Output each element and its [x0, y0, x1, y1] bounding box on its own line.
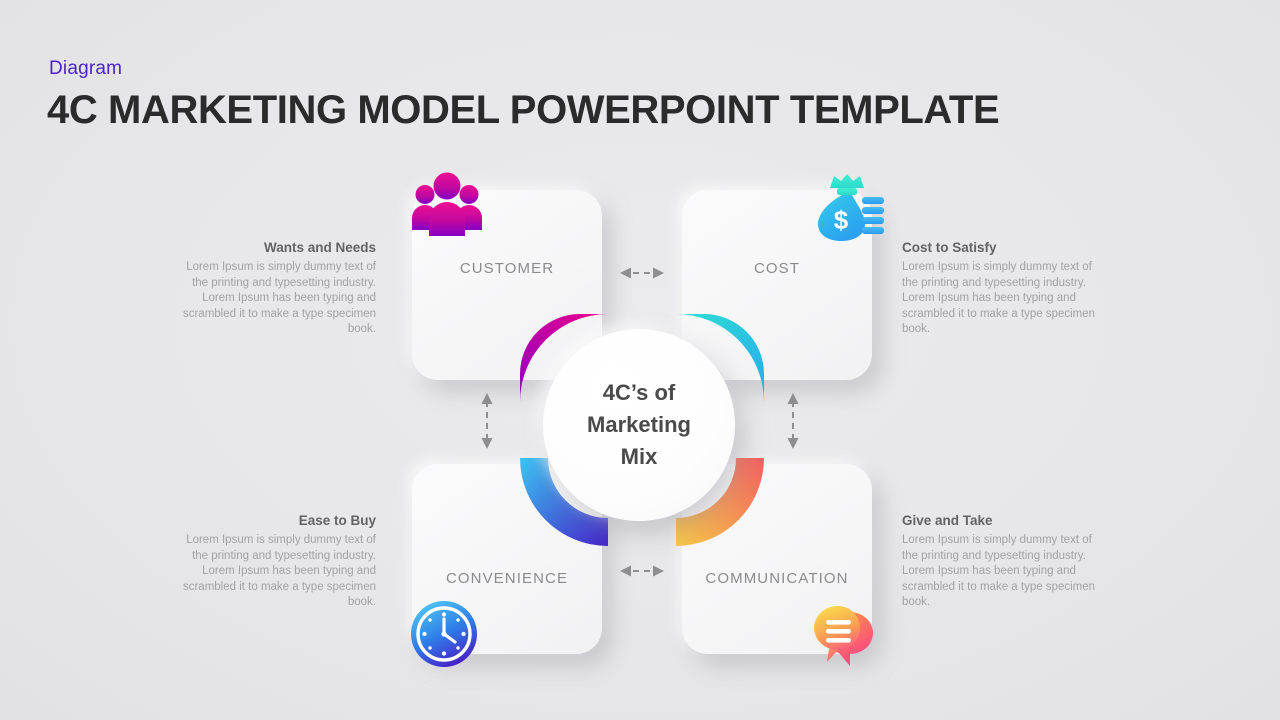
info-body: Lorem Ipsum is simply dummy text of the … — [902, 260, 1098, 338]
center-line-1: 4C’s of — [587, 377, 691, 409]
chat-bubbles-icon — [804, 598, 884, 670]
double-arrow-horizontal-icon — [620, 566, 664, 577]
category-kicker: Diagram — [49, 58, 122, 80]
card-communication[interactable]: COMMUNICATION — [682, 464, 872, 654]
center-hub[interactable]: 4C’s of Marketing Mix — [543, 329, 735, 521]
info-body: Lorem Ipsum is simply dummy text of the … — [180, 533, 376, 611]
double-arrow-vertical-icon — [788, 393, 799, 449]
people-group-icon — [408, 168, 486, 240]
center-line-2: Marketing — [587, 409, 691, 441]
double-arrow-vertical-icon — [482, 393, 493, 449]
center-line-3: Mix — [587, 441, 691, 473]
info-block-cost-to-satisfy: Cost to Satisfy Lorem Ipsum is simply du… — [902, 240, 1098, 338]
info-block-give-and-take: Give and Take Lorem Ipsum is simply dumm… — [902, 513, 1098, 611]
connector-bottom — [604, 560, 680, 582]
page-title: 4C MARKETING MODEL POWERPOINT TEMPLATE — [47, 88, 999, 133]
connector-right — [782, 385, 804, 457]
connector-top — [604, 262, 680, 284]
info-heading: Ease to Buy — [180, 513, 376, 528]
slide-canvas: Diagram 4C MARKETING MODEL POWERPOINT TE… — [0, 0, 1280, 720]
svg-text:$: $ — [834, 205, 849, 235]
info-body: Lorem Ipsum is simply dummy text of the … — [180, 260, 376, 338]
info-heading: Cost to Satisfy — [902, 240, 1098, 255]
connector-left — [476, 385, 498, 457]
info-block-wants-and-needs: Wants and Needs Lorem Ipsum is simply du… — [180, 240, 376, 338]
clock-icon — [408, 598, 480, 670]
double-arrow-horizontal-icon — [620, 268, 664, 279]
info-heading: Wants and Needs — [180, 240, 376, 255]
money-bag-icon: $ — [804, 170, 884, 244]
card-customer[interactable]: CUSTOMER — [412, 190, 602, 380]
info-heading: Give and Take — [902, 513, 1098, 528]
info-body: Lorem Ipsum is simply dummy text of the … — [902, 533, 1098, 611]
info-block-ease-to-buy: Ease to Buy Lorem Ipsum is simply dummy … — [180, 513, 376, 611]
center-hub-label: 4C’s of Marketing Mix — [587, 377, 691, 473]
card-cost[interactable]: COST — [682, 190, 872, 380]
